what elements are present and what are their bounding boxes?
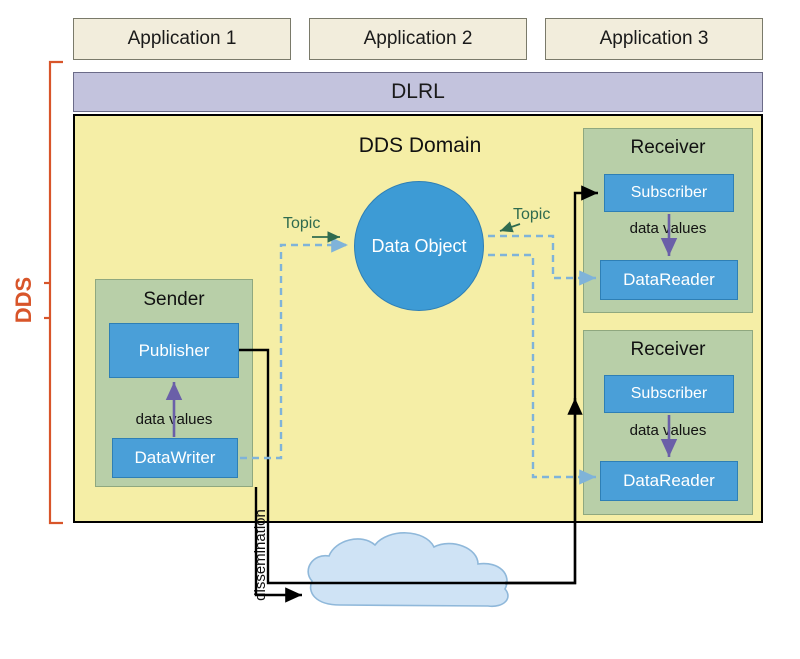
application-1-label: Application 1 [128, 28, 237, 50]
publisher-box: Publisher [109, 323, 239, 378]
receiver-1-datareader-box: DataReader [600, 260, 738, 300]
sender-label: Sender [95, 288, 253, 312]
application-1-box: Application 1 [73, 18, 291, 60]
data-object-label: Data Object [371, 236, 466, 257]
application-2-box: Application 2 [309, 18, 527, 60]
receiver-1-subscriber-box: Subscriber [604, 174, 734, 212]
receiver-1-subscriber-label: Subscriber [631, 184, 707, 202]
application-2-label: Application 2 [364, 28, 473, 50]
application-3-box: Application 3 [545, 18, 763, 60]
topic-label-right: Topic [513, 206, 550, 224]
receiver-2-datareader-label: DataReader [623, 471, 715, 491]
receiver-2-data-values-label: data values [583, 420, 753, 440]
datawriter-label: DataWriter [135, 448, 216, 468]
dds-domain-label: DDS Domain [230, 132, 610, 160]
receiver-1-data-values-label: data values [583, 218, 753, 238]
receiver-2-datareader-box: DataReader [600, 461, 738, 501]
publisher-label: Publisher [139, 341, 210, 361]
dds-label: DDS [9, 278, 39, 322]
network-label: Network [330, 575, 500, 601]
application-3-label: Application 3 [600, 28, 709, 50]
receiver-1-datareader-label: DataReader [623, 270, 715, 290]
topic-label-left: Topic [283, 215, 320, 233]
datawriter-box: DataWriter [112, 438, 238, 478]
dlrl-box: DLRL [73, 72, 763, 112]
dissemination-label: dissemination [250, 495, 270, 615]
receiver-2-label: Receiver [583, 338, 753, 362]
receiver-2-subscriber-label: Subscriber [631, 385, 707, 403]
dds-bracket-icon [44, 62, 63, 523]
receiver-2-subscriber-box: Subscriber [604, 375, 734, 413]
diagram-canvas: Application 1 Application 2 Application … [0, 0, 800, 659]
data-object-circle: Data Object [354, 181, 484, 311]
dlrl-label: DLRL [391, 80, 445, 104]
receiver-1-label: Receiver [583, 136, 753, 160]
sender-data-values-label: data values [95, 409, 253, 429]
